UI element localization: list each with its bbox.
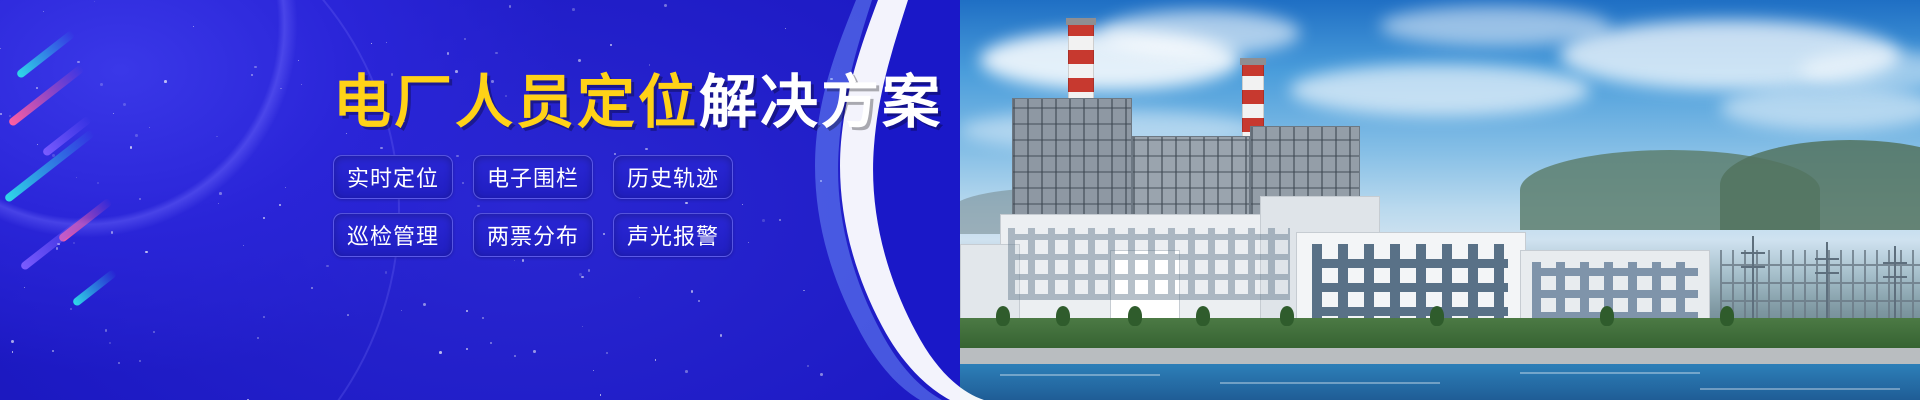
chimney-cap [1240, 58, 1266, 65]
feature-tag-audio-visual-alarm[interactable]: 声光报警 [613, 213, 733, 257]
window-grid [1008, 228, 1290, 300]
feature-tag-electronic-fence[interactable]: 电子围栏 [473, 155, 593, 199]
cloud-icon [1720, 86, 1920, 130]
transmission-pylon [1826, 242, 1828, 320]
cloud-icon [1100, 10, 1300, 56]
feature-tag-two-ticket-dist[interactable]: 两票分布 [473, 213, 593, 257]
title-highlight: 电厂人员定位 [333, 70, 699, 135]
chimney-cap [1066, 18, 1096, 25]
tree-icon [1430, 306, 1444, 326]
tree-icon [1056, 306, 1070, 326]
wave-line [1520, 372, 1700, 374]
tree-icon [996, 306, 1010, 326]
wave-line [1000, 374, 1160, 376]
tree-icon [1720, 306, 1734, 326]
banner-content: 电厂人员定位解决方案 实时定位 电子围栏 历史轨迹 巡检管理 两票分布 声光报警 [0, 0, 960, 400]
feature-tag-realtime-location[interactable]: 实时定位 [333, 155, 453, 199]
feature-tag-row-1: 实时定位 电子围栏 历史轨迹 [333, 155, 733, 199]
waterfront [960, 364, 1920, 400]
transmission-pylon [1894, 246, 1896, 320]
power-plant-photo [960, 0, 1920, 400]
feature-tag-inspection-mgmt[interactable]: 巡检管理 [333, 213, 453, 257]
feature-tag-row-2: 巡检管理 两票分布 声光报警 [333, 213, 733, 257]
tree-icon [1600, 306, 1614, 326]
feature-tag-list: 实时定位 电子围栏 历史轨迹 巡检管理 两票分布 声光报警 [333, 155, 733, 271]
transmission-pylon [1752, 236, 1754, 320]
title-plain: 解决方案 [699, 70, 943, 135]
hill-shape [1720, 140, 1920, 230]
page-title: 电厂人员定位解决方案 [333, 74, 943, 132]
substation [1720, 250, 1920, 320]
wave-line [1700, 388, 1900, 390]
tree-icon [1128, 306, 1142, 326]
wave-line [1220, 382, 1440, 384]
tree-icon [1280, 306, 1294, 326]
cloud-icon [1290, 64, 1590, 116]
cloud-icon [1380, 6, 1610, 46]
tree-icon [1196, 306, 1210, 326]
solution-banner: 电厂人员定位解决方案 实时定位 电子围栏 历史轨迹 巡检管理 两票分布 声光报警 [0, 0, 1920, 400]
feature-tag-history-track[interactable]: 历史轨迹 [613, 155, 733, 199]
